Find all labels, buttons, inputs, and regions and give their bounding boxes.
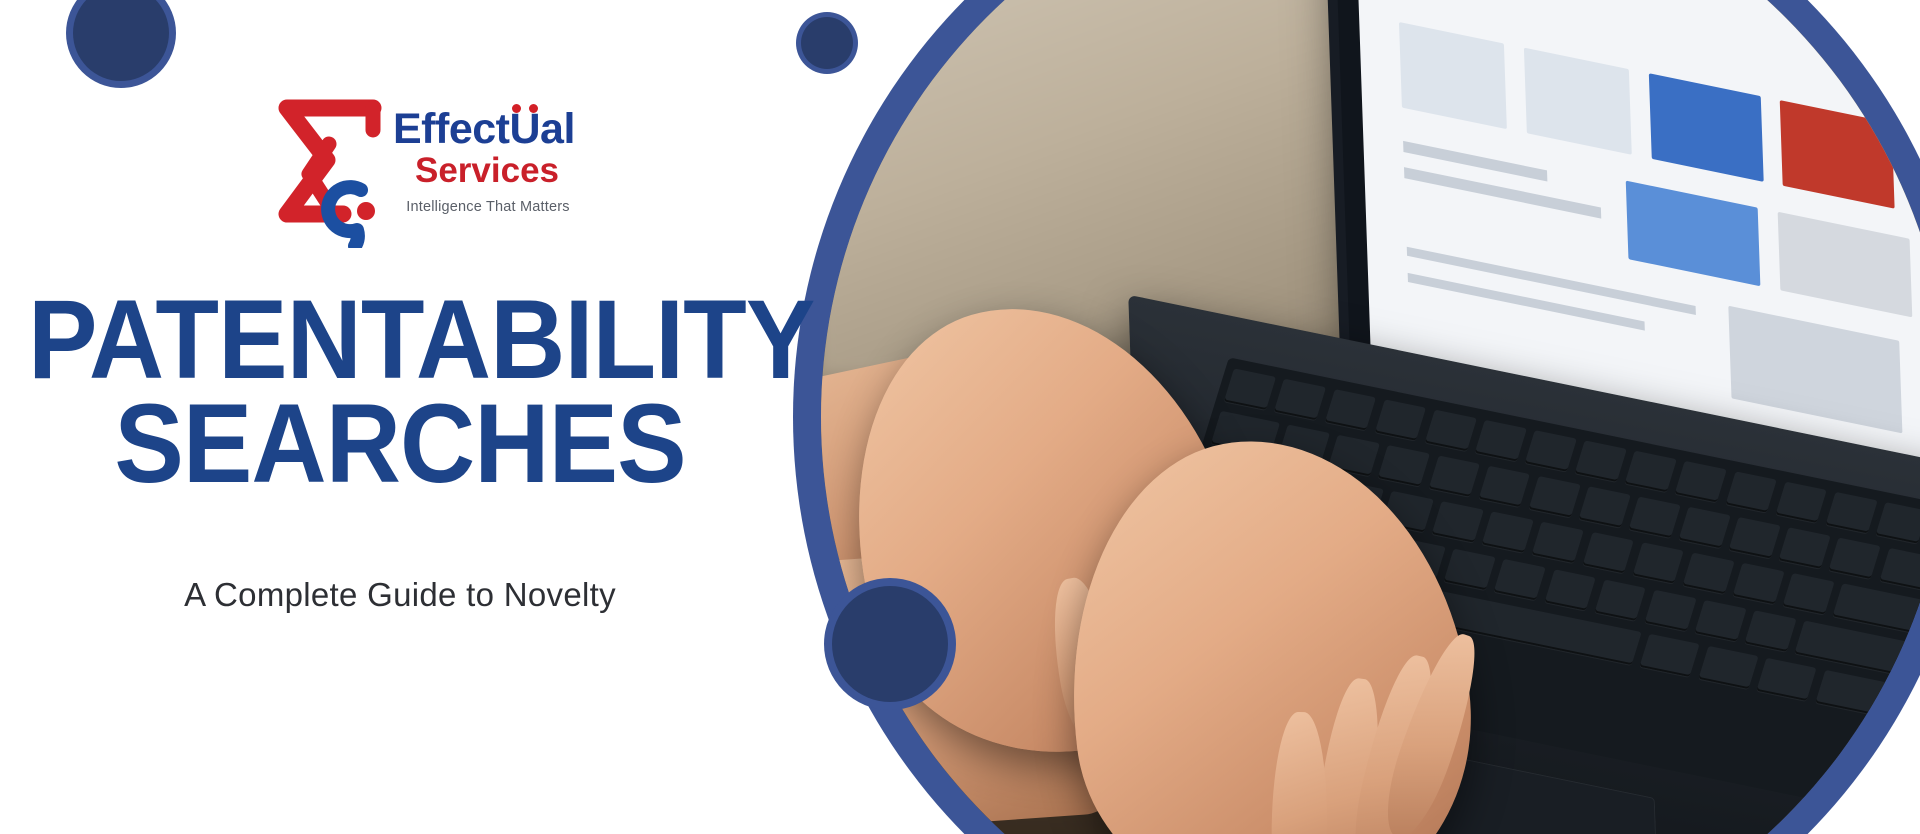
page-line: [1407, 273, 1644, 331]
brand-logo-text: EffectUal Services Intelligence That Mat…: [393, 108, 608, 215]
brand-tagline: Intelligence That Matters: [393, 199, 583, 215]
page-thumbnail: [1780, 101, 1895, 210]
decorative-circle-core: [801, 17, 853, 69]
hero-banner: EffectUal Services Intelligence That Mat…: [0, 0, 1920, 834]
page-thumbnail: [1648, 74, 1763, 183]
headline-line-1: PATENTABILITY: [28, 288, 772, 392]
brand-name-u: U: [509, 105, 540, 153]
page-card: [1523, 48, 1631, 155]
headline-line-2: SEARCHES: [28, 392, 772, 496]
decorative-circle-top-right: [796, 12, 858, 74]
page-thumbnail: [1777, 211, 1911, 317]
decorative-circle-core: [832, 586, 948, 702]
page-line: [1403, 167, 1601, 218]
hero-photo: [793, 0, 1920, 834]
brand-name-pre: Effect: [393, 105, 509, 153]
page-thumbnail: [1728, 306, 1902, 434]
brand-name: EffectUal: [393, 108, 608, 151]
brand-logo[interactable]: EffectUal Services Intelligence That Mat…: [265, 88, 605, 248]
brand-name-post: al: [540, 105, 575, 153]
decorative-circle-bottom: [824, 578, 956, 710]
effectual-logo-mark-icon: [265, 90, 385, 248]
hero-subtitle: A Complete Guide to Novelty: [0, 576, 800, 614]
photo-disc: [821, 0, 1920, 834]
brand-subname: Services: [393, 153, 581, 190]
hero-headline: PATENTABILITY SEARCHES: [28, 288, 772, 496]
hero-left-column: EffectUal Services Intelligence That Mat…: [0, 0, 800, 834]
page-thumbnail: [1626, 180, 1760, 286]
page-card: [1398, 22, 1506, 129]
